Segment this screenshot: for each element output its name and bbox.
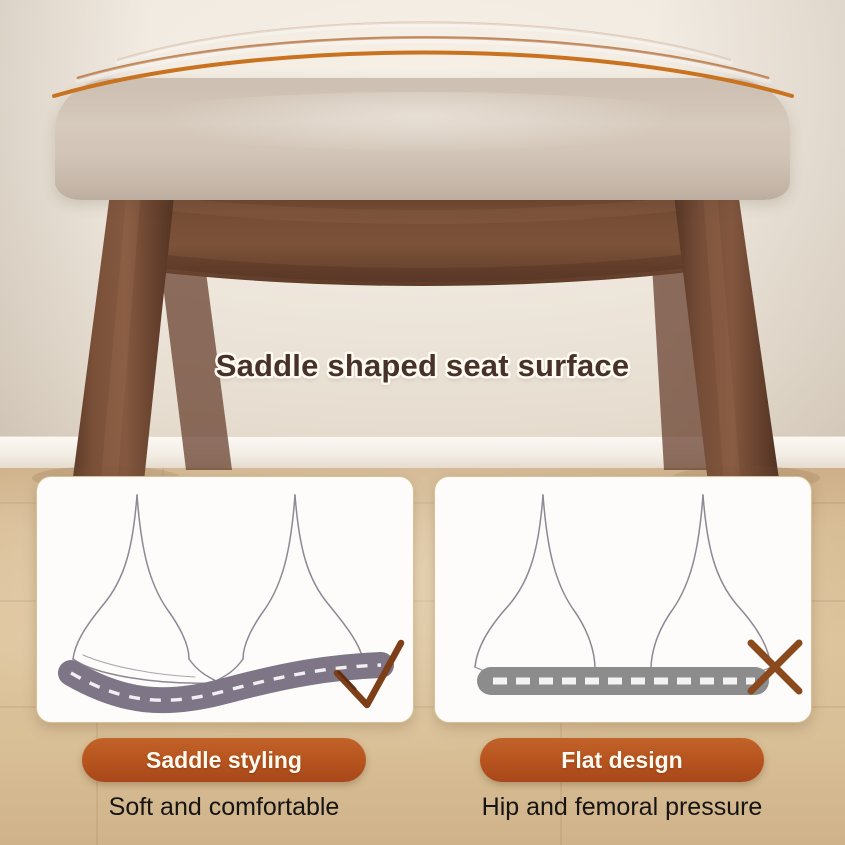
saddle-curved-seat-diagram: [37, 477, 413, 722]
comparison-card-saddle[interactable]: [36, 476, 414, 723]
comparison-card-flat[interactable]: [434, 476, 812, 723]
chair-photo: [0, 0, 845, 500]
comparison-cards: [0, 476, 845, 726]
badge-flat-design[interactable]: Flat design: [480, 738, 764, 782]
badge-flat-design-label: Flat design: [561, 747, 682, 774]
badge-saddle-styling-label: Saddle styling: [146, 747, 302, 774]
badge-saddle-styling[interactable]: Saddle styling: [82, 738, 366, 782]
cross-mark-icon: [751, 643, 799, 691]
page-title: Saddle shaped seat surface: [0, 348, 845, 384]
product-feature-image: Saddle shaped seat surface: [0, 0, 845, 845]
caption-flat: Hip and femoral pressure: [452, 793, 792, 822]
caption-saddle: Soft and comfortable: [54, 793, 394, 822]
seat-curve-arcs: [0, 0, 845, 120]
flat-seat-diagram: [435, 477, 811, 722]
